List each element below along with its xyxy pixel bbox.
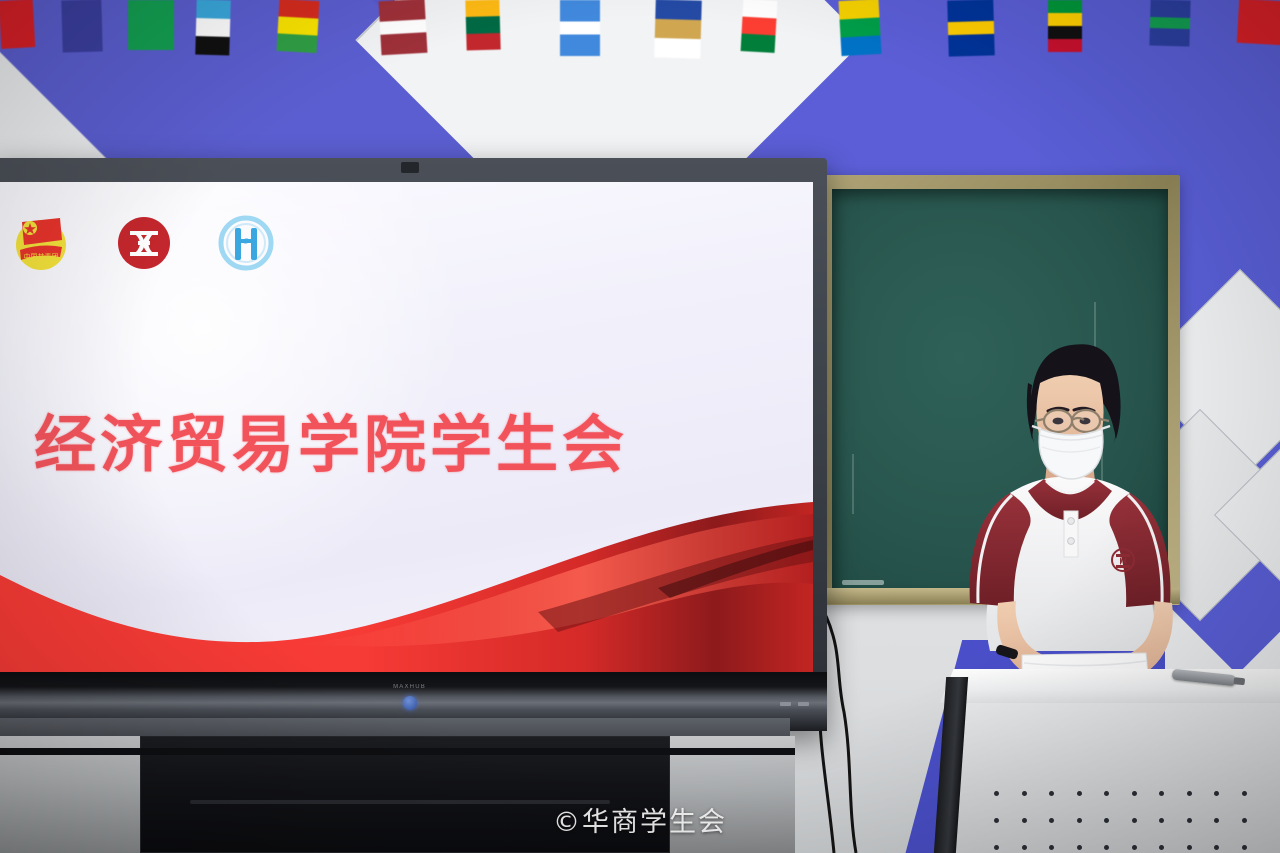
slide-title: 经济贸易学院学生会: [34, 394, 628, 484]
flag-flag-lithuania: [465, 0, 500, 50]
power-button[interactable]: [403, 696, 417, 710]
av-cabinet-rail: [0, 748, 795, 755]
display-brand-label: MAXHUB: [393, 684, 426, 690]
lectern-dot: [1214, 845, 1219, 850]
flag-flag-indigo: [61, 0, 102, 53]
lectern-dot: [1187, 791, 1192, 796]
display-sensor-row: [780, 702, 809, 706]
lectern-dot: [1242, 791, 1247, 796]
slide-red-ribbon-graphic: [0, 492, 813, 672]
international-flag-bunting: [0, 0, 1280, 62]
lectern-dot: [1077, 791, 1082, 796]
camera-icon: [401, 162, 419, 173]
flag-flag-latvia: [379, 0, 428, 55]
lectern-dot: [994, 845, 999, 850]
interactive-flat-panel-display[interactable]: 中国共青团: [0, 158, 827, 731]
svg-text:中国共青团: 中国共青团: [24, 252, 59, 261]
lectern-dot: [1132, 845, 1137, 850]
display-screen[interactable]: 中国共青团: [0, 182, 813, 672]
school-red-circular-logo: [116, 215, 172, 271]
lectern-dot: [1159, 845, 1164, 850]
communist-youth-league-emblem: 中国共青团: [10, 212, 72, 274]
flag-flag-european-union: [947, 0, 995, 57]
classroom-scene-photo: 中国共青团: [0, 0, 1280, 853]
flag-flag-red-edge: [1237, 0, 1280, 45]
lectern-dot: [1049, 791, 1054, 796]
flag-flag-botswana: [195, 0, 231, 55]
watermark: ©华商学生会: [0, 800, 1280, 839]
lectern-dot: [1132, 791, 1137, 796]
slide-logo-row: 中国共青团: [10, 212, 276, 274]
flag-flag-st-vincent: [838, 0, 881, 56]
flag-flag-red: [0, 0, 35, 49]
flag-flag-green: [128, 0, 174, 50]
lectern-dot: [1022, 845, 1027, 850]
flag-flag-st-kitts-nevis: [1048, 0, 1082, 52]
lectern-dot: [1049, 845, 1054, 850]
lectern-dot-row: [994, 845, 1280, 850]
flag-flag-somalia: [560, 0, 600, 56]
lectern-dot: [1104, 845, 1109, 850]
lectern-dot: [1104, 791, 1109, 796]
lectern-dot: [1187, 845, 1192, 850]
flag-flag-blue-green: [1149, 0, 1190, 47]
flag-flag-madagascar: [741, 0, 778, 53]
lectern-dot: [1077, 845, 1082, 850]
huashang-blue-h-logo: [216, 213, 276, 273]
lectern-dot: [1214, 791, 1219, 796]
student-speaker: [940, 325, 1240, 725]
lectern-dot: [1022, 791, 1027, 796]
lectern-dot: [1159, 791, 1164, 796]
lectern-dot: [1242, 845, 1247, 850]
flag-flag-bolivia: [277, 0, 320, 53]
flag-flag-kosovo: [654, 0, 702, 59]
lectern-dot-row: [994, 791, 1280, 796]
lectern-dot: [994, 791, 999, 796]
